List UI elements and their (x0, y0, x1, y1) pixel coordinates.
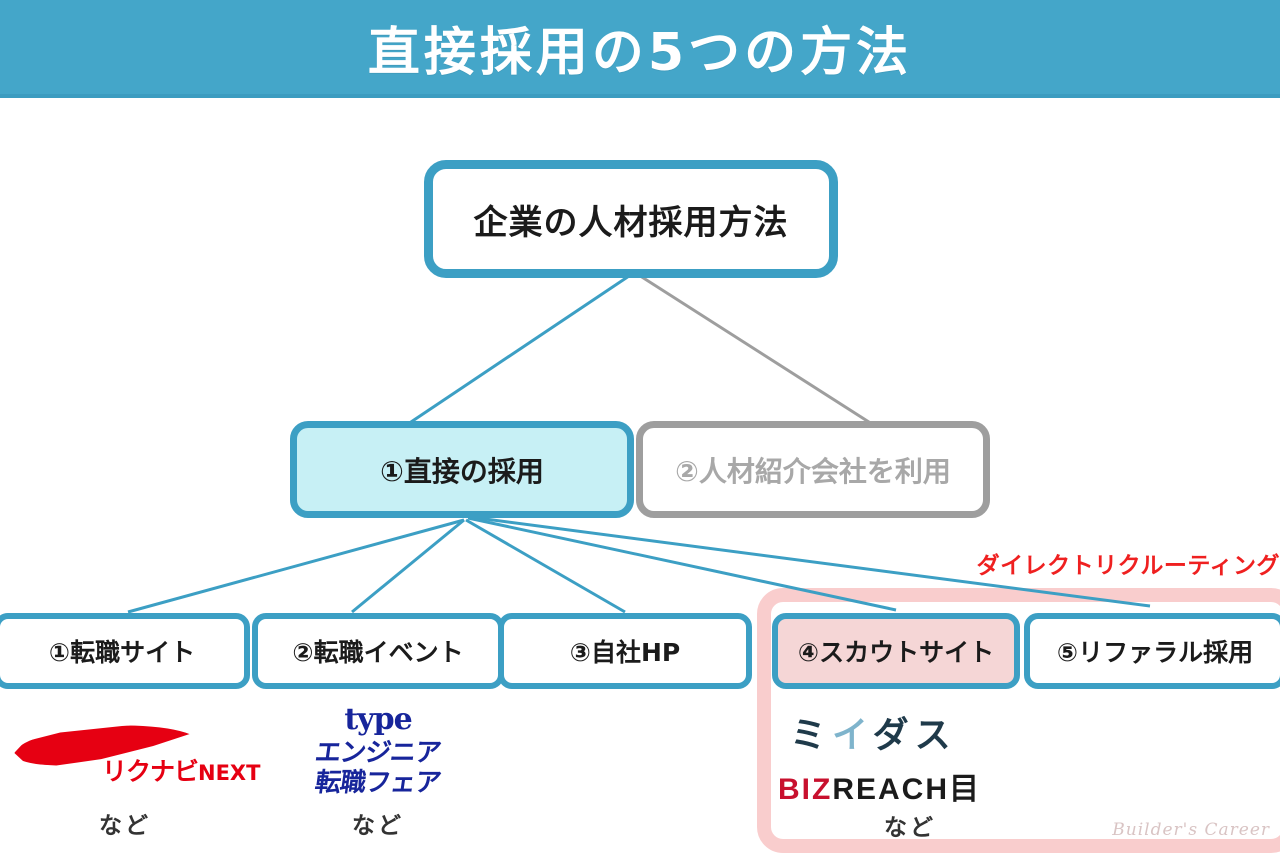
etc-label-scout-site: など (790, 808, 1030, 842)
bizreach-biz: BIZ (778, 773, 832, 806)
rikunabi-name: リクナビ (102, 757, 198, 786)
infographic-canvas: 直接採用の5つの方法 企業の人材採用方法 ①直接の採用 ②人材紹介会社を利用 ①… (0, 0, 1280, 853)
node-own-homepage[interactable]: ③自社HP (498, 613, 752, 689)
node-root-label: 企業の人材採用方法 (474, 195, 789, 244)
watermark: Builder's Career (1110, 820, 1270, 848)
type-engineer-fair-logo: type エンジニア 転職フェア (252, 702, 504, 802)
miidas-part2: ダス (873, 715, 957, 756)
miidas-part1: ミ (790, 715, 832, 756)
node-root[interactable]: 企業の人材採用方法 (424, 160, 838, 278)
bizreach-logo: BIZREACH目 (778, 764, 1038, 798)
node-job-event-label: ②転職イベント (292, 633, 463, 669)
direct-recruiting-label: ダイレクトリクルーティング (935, 546, 1280, 576)
node-referral-hire[interactable]: ⑤リファラル採用 (1024, 613, 1280, 689)
node-job-site-label: ①転職サイト (49, 633, 195, 669)
node-own-homepage-label: ③自社HP (570, 633, 680, 669)
node-referral-hire-label: ⑤リファラル採用 (1057, 633, 1253, 669)
node-job-event[interactable]: ②転職イベント (252, 613, 504, 689)
miidas-logo: ミイダス (790, 706, 1010, 750)
node-direct-hire-label: ①直接の採用 (380, 450, 544, 490)
node-scout-site-label: ④スカウトサイト (798, 633, 994, 669)
etc-label-job-site: など (0, 806, 250, 840)
node-direct-hire[interactable]: ①直接の採用 (290, 421, 634, 518)
node-agency-hire[interactable]: ②人材紹介会社を利用 (636, 421, 990, 518)
type-fair-line: 転職フェア (249, 762, 506, 799)
rikunabi-next-logo: リクナビNEXT (6, 712, 250, 802)
rikunabi-wordmark: リクナビNEXT (102, 752, 260, 788)
etc-label-job-event: など (252, 806, 504, 840)
wire-direct-to-1 (128, 520, 464, 612)
bizreach-reach: REACH目 (832, 773, 981, 806)
wire-root-to-direct (408, 274, 632, 424)
node-job-site[interactable]: ①転職サイト (0, 613, 250, 689)
node-scout-site[interactable]: ④スカウトサイト (772, 613, 1020, 689)
miidas-accent: イ (832, 715, 873, 756)
wire-root-to-agency (634, 272, 872, 424)
node-agency-hire-label: ②人材紹介会社を利用 (675, 450, 951, 490)
